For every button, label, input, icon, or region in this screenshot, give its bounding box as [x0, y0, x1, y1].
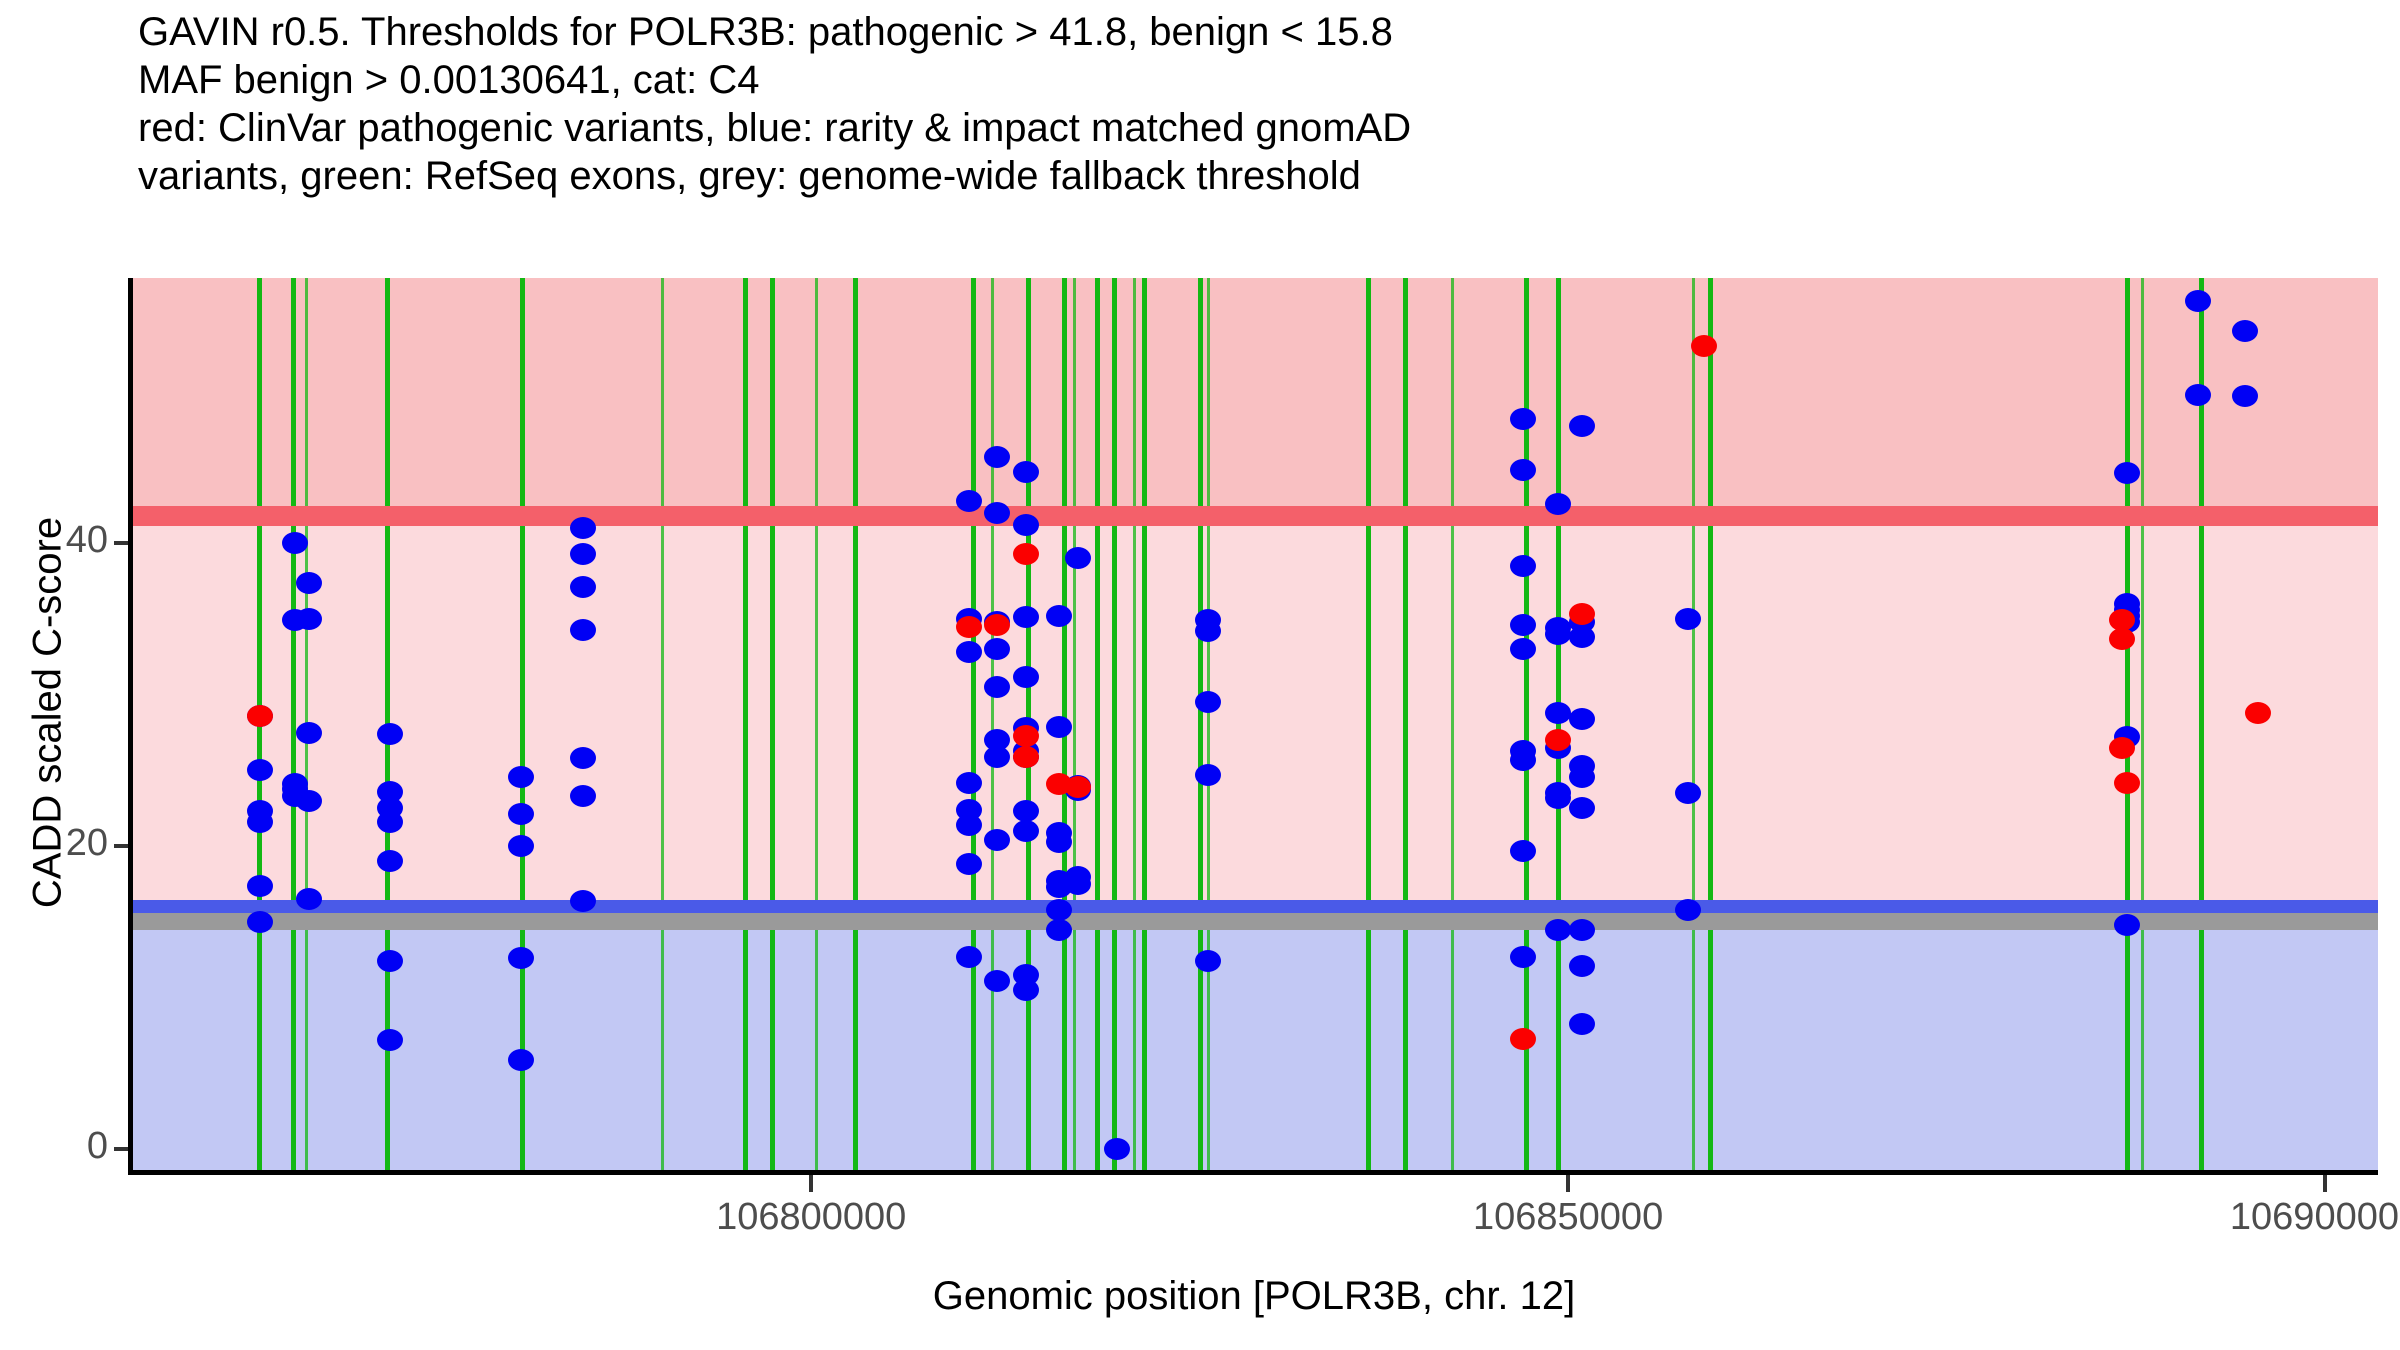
gnomad-variant-point — [2232, 320, 2258, 342]
title-line-1: GAVIN r0.5. Thresholds for POLR3B: patho… — [138, 8, 2378, 56]
refseq-exon-line — [2199, 278, 2204, 1172]
refseq-exon-line — [1403, 278, 1408, 1172]
refseq-exon-line — [1692, 278, 1695, 1172]
gnomad-variant-point — [570, 576, 596, 598]
gnomad-variant-point — [1510, 555, 1536, 577]
gnomad-variant-point — [296, 722, 322, 744]
pathogenic-zone — [130, 278, 2378, 516]
x-axis-title: Genomic position [POLR3B, chr. 12] — [130, 1274, 2378, 1319]
refseq-exon-line — [1556, 278, 1561, 1172]
gnomad-variant-point — [1195, 620, 1221, 642]
gnomad-variant-point — [1510, 459, 1536, 481]
gnomad-variant-point — [508, 803, 534, 825]
gnomad-variant-point — [1545, 623, 1571, 645]
pathogenic-variant-point — [1569, 603, 1595, 625]
gnomad-variant-point — [570, 517, 596, 539]
gnomad-variant-point — [1569, 708, 1595, 730]
chart-title-block: GAVIN r0.5. Thresholds for POLR3B: patho… — [138, 8, 2378, 200]
refseq-exon-line — [1133, 278, 1136, 1172]
refseq-exon-line — [991, 278, 994, 1172]
x-axis-line — [128, 1170, 2378, 1175]
refseq-exon-line — [853, 278, 858, 1172]
gnomad-variant-point — [1675, 608, 1701, 630]
y-tick-label: 0 — [18, 1125, 108, 1168]
gnomad-variant-point — [1510, 614, 1536, 636]
gnomad-variant-point — [984, 446, 1010, 468]
gnomad-variant-point — [570, 619, 596, 641]
gnomad-variant-point — [570, 890, 596, 912]
y-tick-label: 20 — [18, 822, 108, 865]
pathogenic-variant-point — [2109, 737, 2135, 759]
gnomad-variant-point — [508, 766, 534, 788]
gnomad-variant-point — [1065, 547, 1091, 569]
pathogenic-variant-point — [956, 616, 982, 638]
refseq-exon-line — [1112, 278, 1117, 1172]
gnomad-variant-point — [956, 641, 982, 663]
gnomad-variant-point — [1013, 461, 1039, 483]
gnomad-variant-point — [1569, 1013, 1595, 1035]
gnomad-variant-point — [956, 946, 982, 968]
gnomad-variant-point — [956, 853, 982, 875]
gnomad-variant-point — [1569, 766, 1595, 788]
gnomad-variant-point — [1013, 666, 1039, 688]
refseq-exon-line — [770, 278, 775, 1172]
gnomad-variant-point — [247, 811, 273, 833]
gnomad-variant-point — [570, 785, 596, 807]
refseq-exon-line — [815, 278, 818, 1172]
gnomad-variant-point — [1569, 955, 1595, 977]
gnomad-variant-point — [1569, 919, 1595, 941]
y-tick-mark — [114, 541, 128, 545]
refseq-exon-line — [1451, 278, 1454, 1172]
pathogenic-variant-point — [1013, 746, 1039, 768]
pathogenic-variant-point — [1065, 776, 1091, 798]
pathogenic-threshold-band — [130, 506, 2378, 526]
x-tick-mark — [809, 1175, 813, 1192]
plot-panel — [130, 278, 2378, 1172]
x-tick-label: 106850000 — [1398, 1196, 1738, 1239]
gnomad-variant-point — [956, 772, 982, 794]
gnomad-variant-point — [296, 888, 322, 910]
gnomad-variant-point — [1545, 787, 1571, 809]
refseq-exon-line — [2141, 278, 2144, 1172]
gnomad-variant-point — [296, 572, 322, 594]
pathogenic-variant-point — [2109, 628, 2135, 650]
x-tick-label: 106900000 — [2155, 1196, 2400, 1239]
gnomad-variant-point — [570, 543, 596, 565]
gnomad-variant-point — [956, 814, 982, 836]
vous-zone — [130, 516, 2378, 910]
title-line-4: variants, green: RefSeq exons, grey: gen… — [138, 152, 2378, 200]
gnomad-variant-point — [247, 911, 273, 933]
gnomad-variant-point — [1675, 899, 1701, 921]
y-tick-mark — [114, 1147, 128, 1151]
gnomad-variant-point — [1046, 831, 1072, 853]
refseq-exon-line — [1207, 278, 1210, 1172]
y-tick-mark — [114, 844, 128, 848]
gnomad-variant-point — [984, 746, 1010, 768]
gnomad-variant-point — [1195, 764, 1221, 786]
pathogenic-variant-point — [1013, 543, 1039, 565]
refseq-exon-line — [1198, 278, 1203, 1172]
gnomad-variant-point — [1569, 797, 1595, 819]
refseq-exon-line — [1095, 278, 1100, 1172]
gnomad-variant-point — [1545, 919, 1571, 941]
gnomad-variant-point — [1510, 749, 1536, 771]
gnomad-variant-point — [2232, 385, 2258, 407]
gnomad-variant-point — [1065, 873, 1091, 895]
chart-root: GAVIN r0.5. Thresholds for POLR3B: patho… — [0, 0, 2400, 1350]
gnomad-variant-point — [282, 532, 308, 554]
y-axis-line — [128, 278, 133, 1172]
fallback-threshold-band — [130, 913, 2378, 930]
gnomad-variant-point — [296, 608, 322, 630]
gnomad-variant-point — [508, 835, 534, 857]
gnomad-variant-point — [1046, 716, 1072, 738]
x-tick-mark — [1566, 1175, 1570, 1192]
title-line-2: MAF benign > 0.00130641, cat: C4 — [138, 56, 2378, 104]
gnomad-variant-point — [2185, 384, 2211, 406]
refseq-exon-line — [1708, 278, 1713, 1172]
pathogenic-variant-point — [1545, 729, 1571, 751]
pathogenic-variant-point — [2114, 772, 2140, 794]
gnomad-variant-point — [1013, 514, 1039, 536]
refseq-exon-line — [1366, 278, 1371, 1172]
gnomad-variant-point — [1510, 840, 1536, 862]
gnomad-variant-point — [1195, 691, 1221, 713]
refseq-exon-line — [1073, 278, 1076, 1172]
y-axis-title: CADD scaled C-score — [26, 313, 71, 1113]
gnomad-variant-point — [1510, 408, 1536, 430]
gnomad-variant-point — [508, 1049, 534, 1071]
x-tick-label: 106800000 — [641, 1196, 981, 1239]
refseq-exon-line — [661, 278, 664, 1172]
pathogenic-variant-point — [247, 705, 273, 727]
refseq-exon-line — [743, 278, 748, 1172]
refseq-exon-line — [291, 278, 296, 1172]
gnomad-variant-point — [1675, 782, 1701, 804]
gnomad-variant-point — [1046, 919, 1072, 941]
pathogenic-variant-point — [1013, 725, 1039, 747]
benign-zone — [130, 922, 2378, 1172]
y-tick-label: 40 — [18, 519, 108, 562]
gnomad-variant-point — [1569, 626, 1595, 648]
x-tick-mark — [2323, 1175, 2327, 1192]
gnomad-variant-point — [1545, 702, 1571, 724]
gnomad-variant-point — [2185, 290, 2211, 312]
refseq-exon-line — [520, 278, 525, 1172]
gnomad-variant-point — [956, 490, 982, 512]
gnomad-variant-point — [508, 947, 534, 969]
gnomad-variant-point — [1510, 946, 1536, 968]
pathogenic-variant-point — [1510, 1028, 1536, 1050]
gnomad-variant-point — [247, 875, 273, 897]
refseq-exon-line — [2125, 278, 2130, 1172]
refseq-exon-line — [1142, 278, 1147, 1172]
gnomad-variant-point — [1510, 638, 1536, 660]
title-line-3: red: ClinVar pathogenic variants, blue: … — [138, 104, 2378, 152]
gnomad-variant-point — [570, 747, 596, 769]
gnomad-variant-point — [2114, 914, 2140, 936]
refseq-exon-line — [971, 278, 976, 1172]
gnomad-variant-point — [1545, 493, 1571, 515]
gnomad-variant-point — [296, 790, 322, 812]
